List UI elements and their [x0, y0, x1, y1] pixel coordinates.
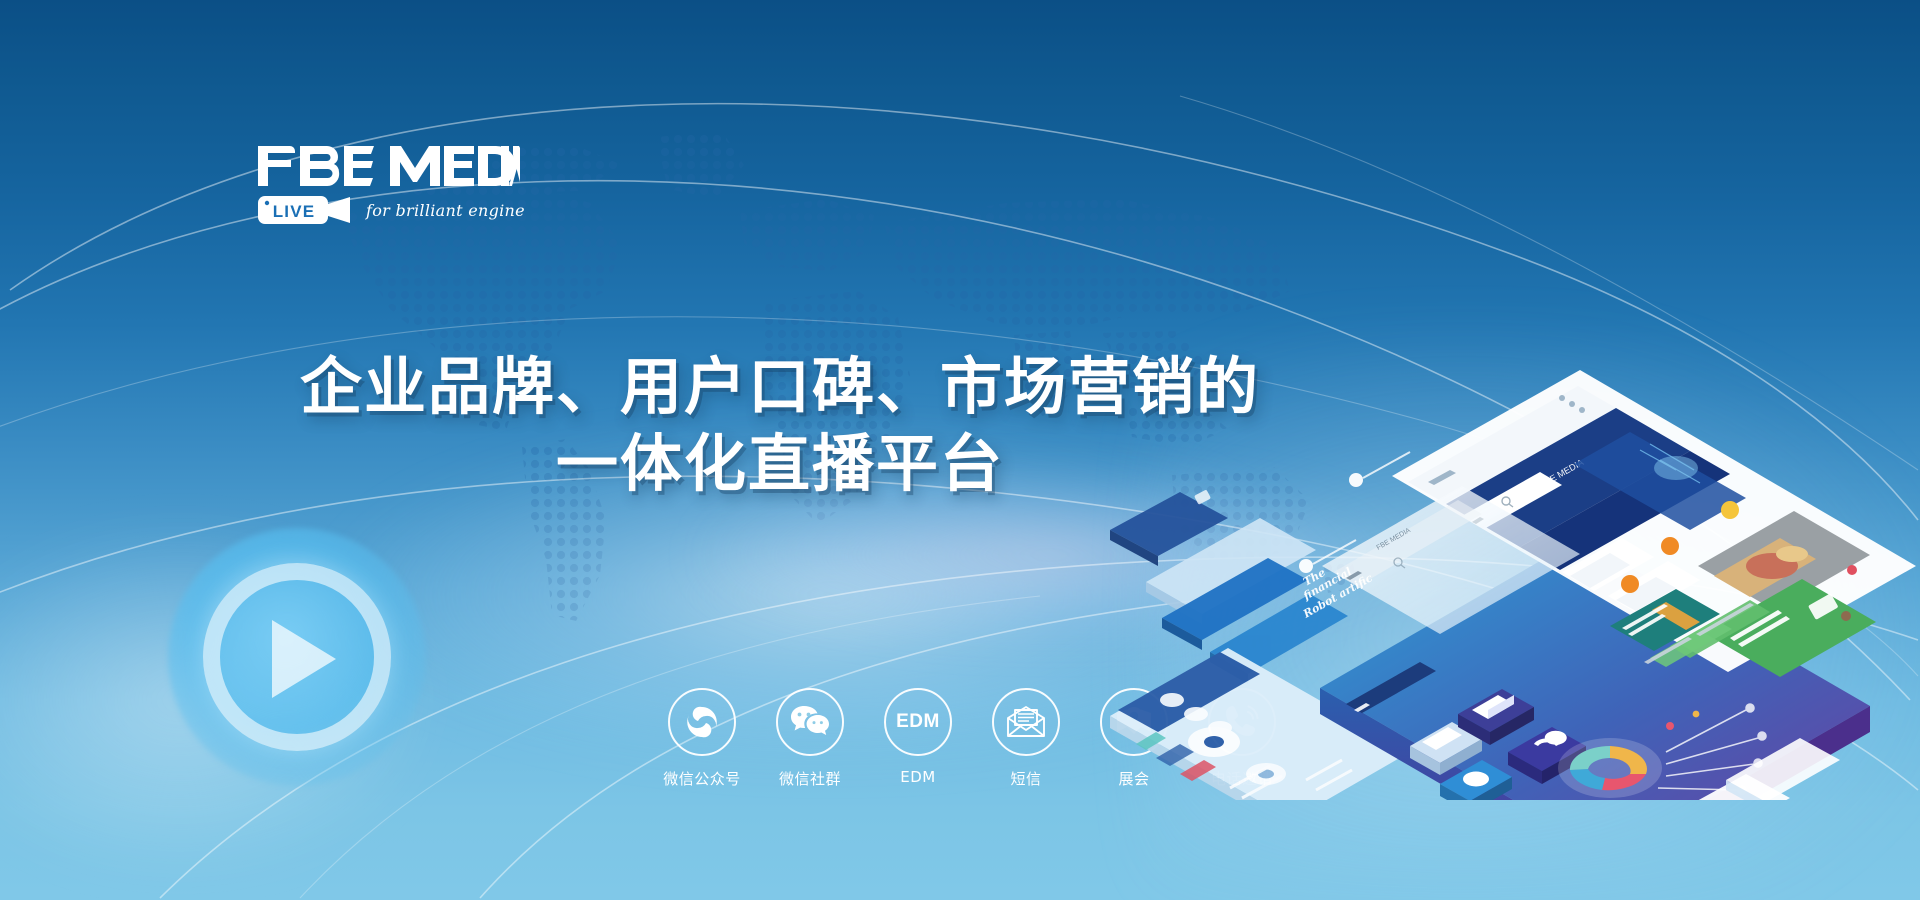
channel-item-wechat-official[interactable]: 微信公众号 — [660, 688, 744, 789]
channel-item-sms[interactable]: 短信 — [984, 688, 1068, 789]
banner-root: LIVE for brilliant engineers 企业品牌、用户口碑、市… — [0, 0, 1920, 900]
play-triangle-icon — [272, 620, 336, 698]
edm-icon[interactable]: EDM — [884, 688, 952, 756]
live-badge[interactable]: LIVE — [258, 195, 354, 225]
brand-logo[interactable]: LIVE for brilliant engineers — [258, 142, 528, 225]
svg-text:LIVE: LIVE — [273, 202, 316, 221]
channel-label: EDM — [900, 768, 935, 786]
edm-icon-text: EDM — [896, 711, 940, 733]
svg-text:for brilliant engineers: for brilliant engineers — [365, 201, 524, 220]
channel-item-edm[interactable]: EDM EDM — [876, 688, 960, 786]
play-button[interactable] — [168, 528, 426, 786]
channel-label: 微信公众号 — [663, 768, 741, 789]
wechat-official-account-icon[interactable] — [668, 688, 736, 756]
sms-envelope-icon[interactable] — [992, 688, 1060, 756]
brand-tagline: for brilliant engineers — [364, 197, 524, 223]
isometric-device-illustration: FBE MEDIA — [1110, 370, 1920, 800]
wechat-group-icon[interactable] — [776, 688, 844, 756]
fbe-media-wordmark — [258, 142, 528, 186]
channel-item-wechat-group[interactable]: 微信社群 — [768, 688, 852, 789]
channel-label: 微信社群 — [779, 768, 841, 789]
channel-label: 短信 — [1010, 768, 1041, 789]
